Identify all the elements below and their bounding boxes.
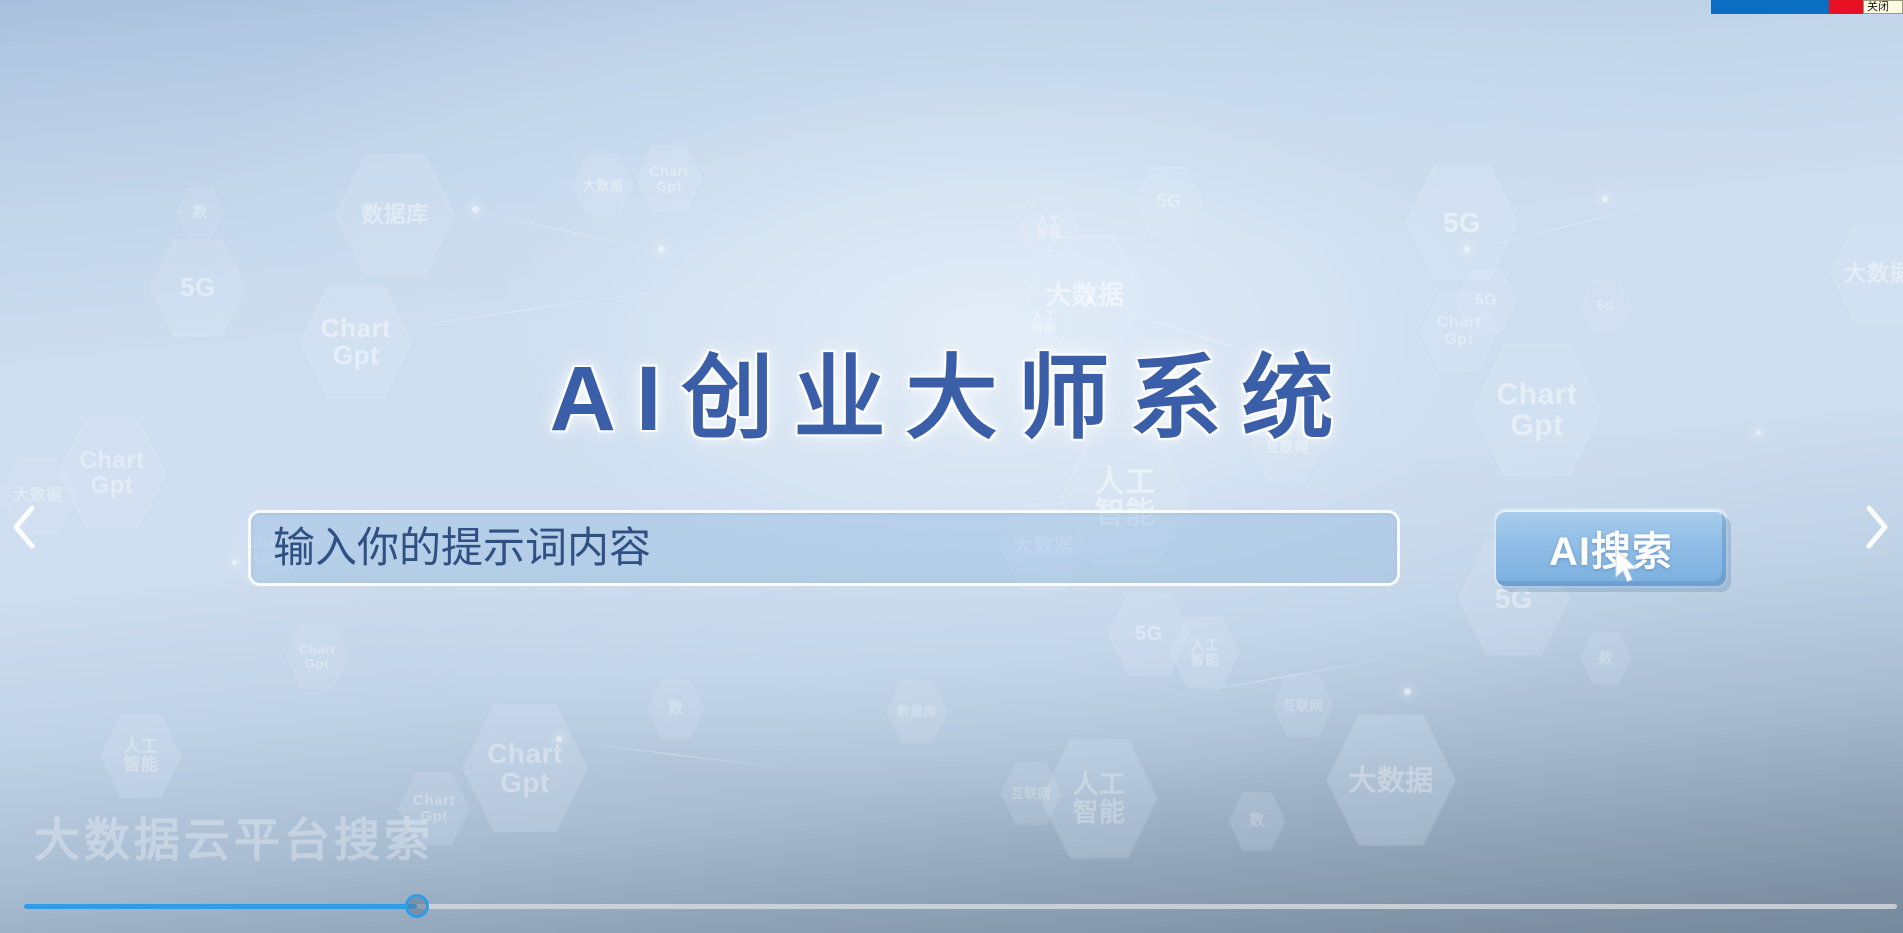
- background-hexagon-label: 5G: [1495, 584, 1533, 613]
- window-titlebar: [1711, 0, 1829, 14]
- carousel-prev-button[interactable]: [2, 497, 46, 557]
- background-hexagon-tag: 数: [176, 186, 224, 238]
- background-hexagon-tag: 互联网: [1272, 672, 1334, 739]
- background-hexagon-tag: 数据库: [335, 150, 455, 280]
- background-hexagon-tag: 数: [1228, 790, 1286, 853]
- background-hexagon-label: 5G: [1475, 293, 1497, 310]
- background-hexagon-label: 5G: [1156, 192, 1181, 211]
- background-hexagon-tag: 人工 智能: [1040, 735, 1158, 862]
- prompt-input[interactable]: [248, 510, 1400, 586]
- background-hexagon-label: 数: [193, 205, 208, 220]
- background-hexagon-label: 人工 智能: [1072, 771, 1125, 826]
- slider-fill: [24, 904, 417, 909]
- background-hexagon-tag: 5G: [1406, 162, 1518, 283]
- background-hexagon-label: 数: [1249, 813, 1265, 829]
- background-connector-lines: [0, 0, 1903, 933]
- background-hexagon-label: 数据库: [897, 705, 938, 719]
- background-hexagon-label: Chart Gpt: [299, 643, 335, 670]
- page-title: AI创业大师系统: [0, 324, 1903, 457]
- background-hexagon-label: 数: [668, 701, 684, 717]
- ai-search-button[interactable]: AI搜索: [1496, 510, 1726, 586]
- slider-track[interactable]: [24, 904, 1897, 909]
- background-hexagon-tag: 互联网: [1000, 760, 1062, 827]
- background-hexagon-label: 5G: [1135, 624, 1163, 645]
- background-hexagon-tag: 5G: [1108, 590, 1190, 679]
- chevron-right-icon: [1863, 504, 1891, 550]
- background-hexagon-label: Chart Gpt: [649, 164, 688, 193]
- background-hexagon-tag: 数据库: [886, 678, 948, 745]
- background-hexagon-label: 大数据: [1045, 282, 1125, 309]
- background-hexagon-tag: 数: [1580, 630, 1632, 686]
- background-hexagon-tag: Chart Gpt: [636, 143, 702, 214]
- slider-thumb[interactable]: [405, 894, 429, 918]
- background-hexagon-label: 人工 智能: [1036, 215, 1061, 240]
- background-hexagon-label: 5G: [1443, 208, 1481, 237]
- background-hexagon-tag: 大数据: [1326, 710, 1456, 850]
- background-hexagon-label: 大数据: [583, 179, 624, 193]
- background-hexagon-label: 数: [1599, 651, 1614, 666]
- background-hexagon-label: 大数据: [1348, 766, 1434, 795]
- chevron-left-icon: [10, 504, 38, 550]
- carousel-next-button[interactable]: [1855, 497, 1899, 557]
- ai-startup-master-page: 数据库Chart Gpt大数据Chart Gpt数5GChart Gpt大数据C…: [0, 0, 1903, 933]
- background-hexagon-tag: 人工 智能: [1020, 196, 1078, 259]
- background-hexagon-tag: 5G: [1135, 165, 1203, 238]
- background-hexagon-label: 大数据: [1844, 262, 1903, 285]
- background-watermark: 大数据云平台搜索: [34, 804, 434, 870]
- search-row: AI搜索: [248, 510, 1726, 586]
- close-tooltip: 关闭: [1863, 0, 1903, 14]
- background-hexagon-label: 数据库: [361, 203, 429, 226]
- background-hexagon-tag: Chart Gpt: [462, 700, 588, 836]
- background-hexagon-label: 互联网: [1011, 787, 1052, 801]
- progress-slider[interactable]: [24, 895, 1897, 917]
- background-hexagon-tag: 人工 智能: [1170, 615, 1240, 691]
- background-hexagon-label: Chart Gpt: [487, 739, 563, 798]
- background-hexagon-label: 人工 智能: [124, 738, 159, 774]
- background-hexagon-tag: 数: [647, 678, 705, 741]
- background-hexagon-tag: 大数据: [1830, 222, 1903, 326]
- hexagon-network-background: 数据库Chart Gpt大数据Chart Gpt数5GChart Gpt大数据C…: [0, 0, 1903, 933]
- background-hexagon-tag: 大数据: [572, 152, 634, 219]
- window-close-button[interactable]: [1829, 0, 1863, 14]
- background-hexagon-label: 5G: [180, 274, 216, 301]
- background-hexagon-label: 5G: [1597, 299, 1615, 313]
- background-hexagon-label: 互联网: [1283, 699, 1324, 713]
- background-hexagon-tag: 人工 智能: [100, 712, 182, 801]
- background-hexagon-tag: Chart Gpt: [285, 622, 349, 691]
- background-hexagon-label: 人工 智能: [1191, 638, 1220, 667]
- background-window-chrome: 关闭: [1711, 0, 1903, 14]
